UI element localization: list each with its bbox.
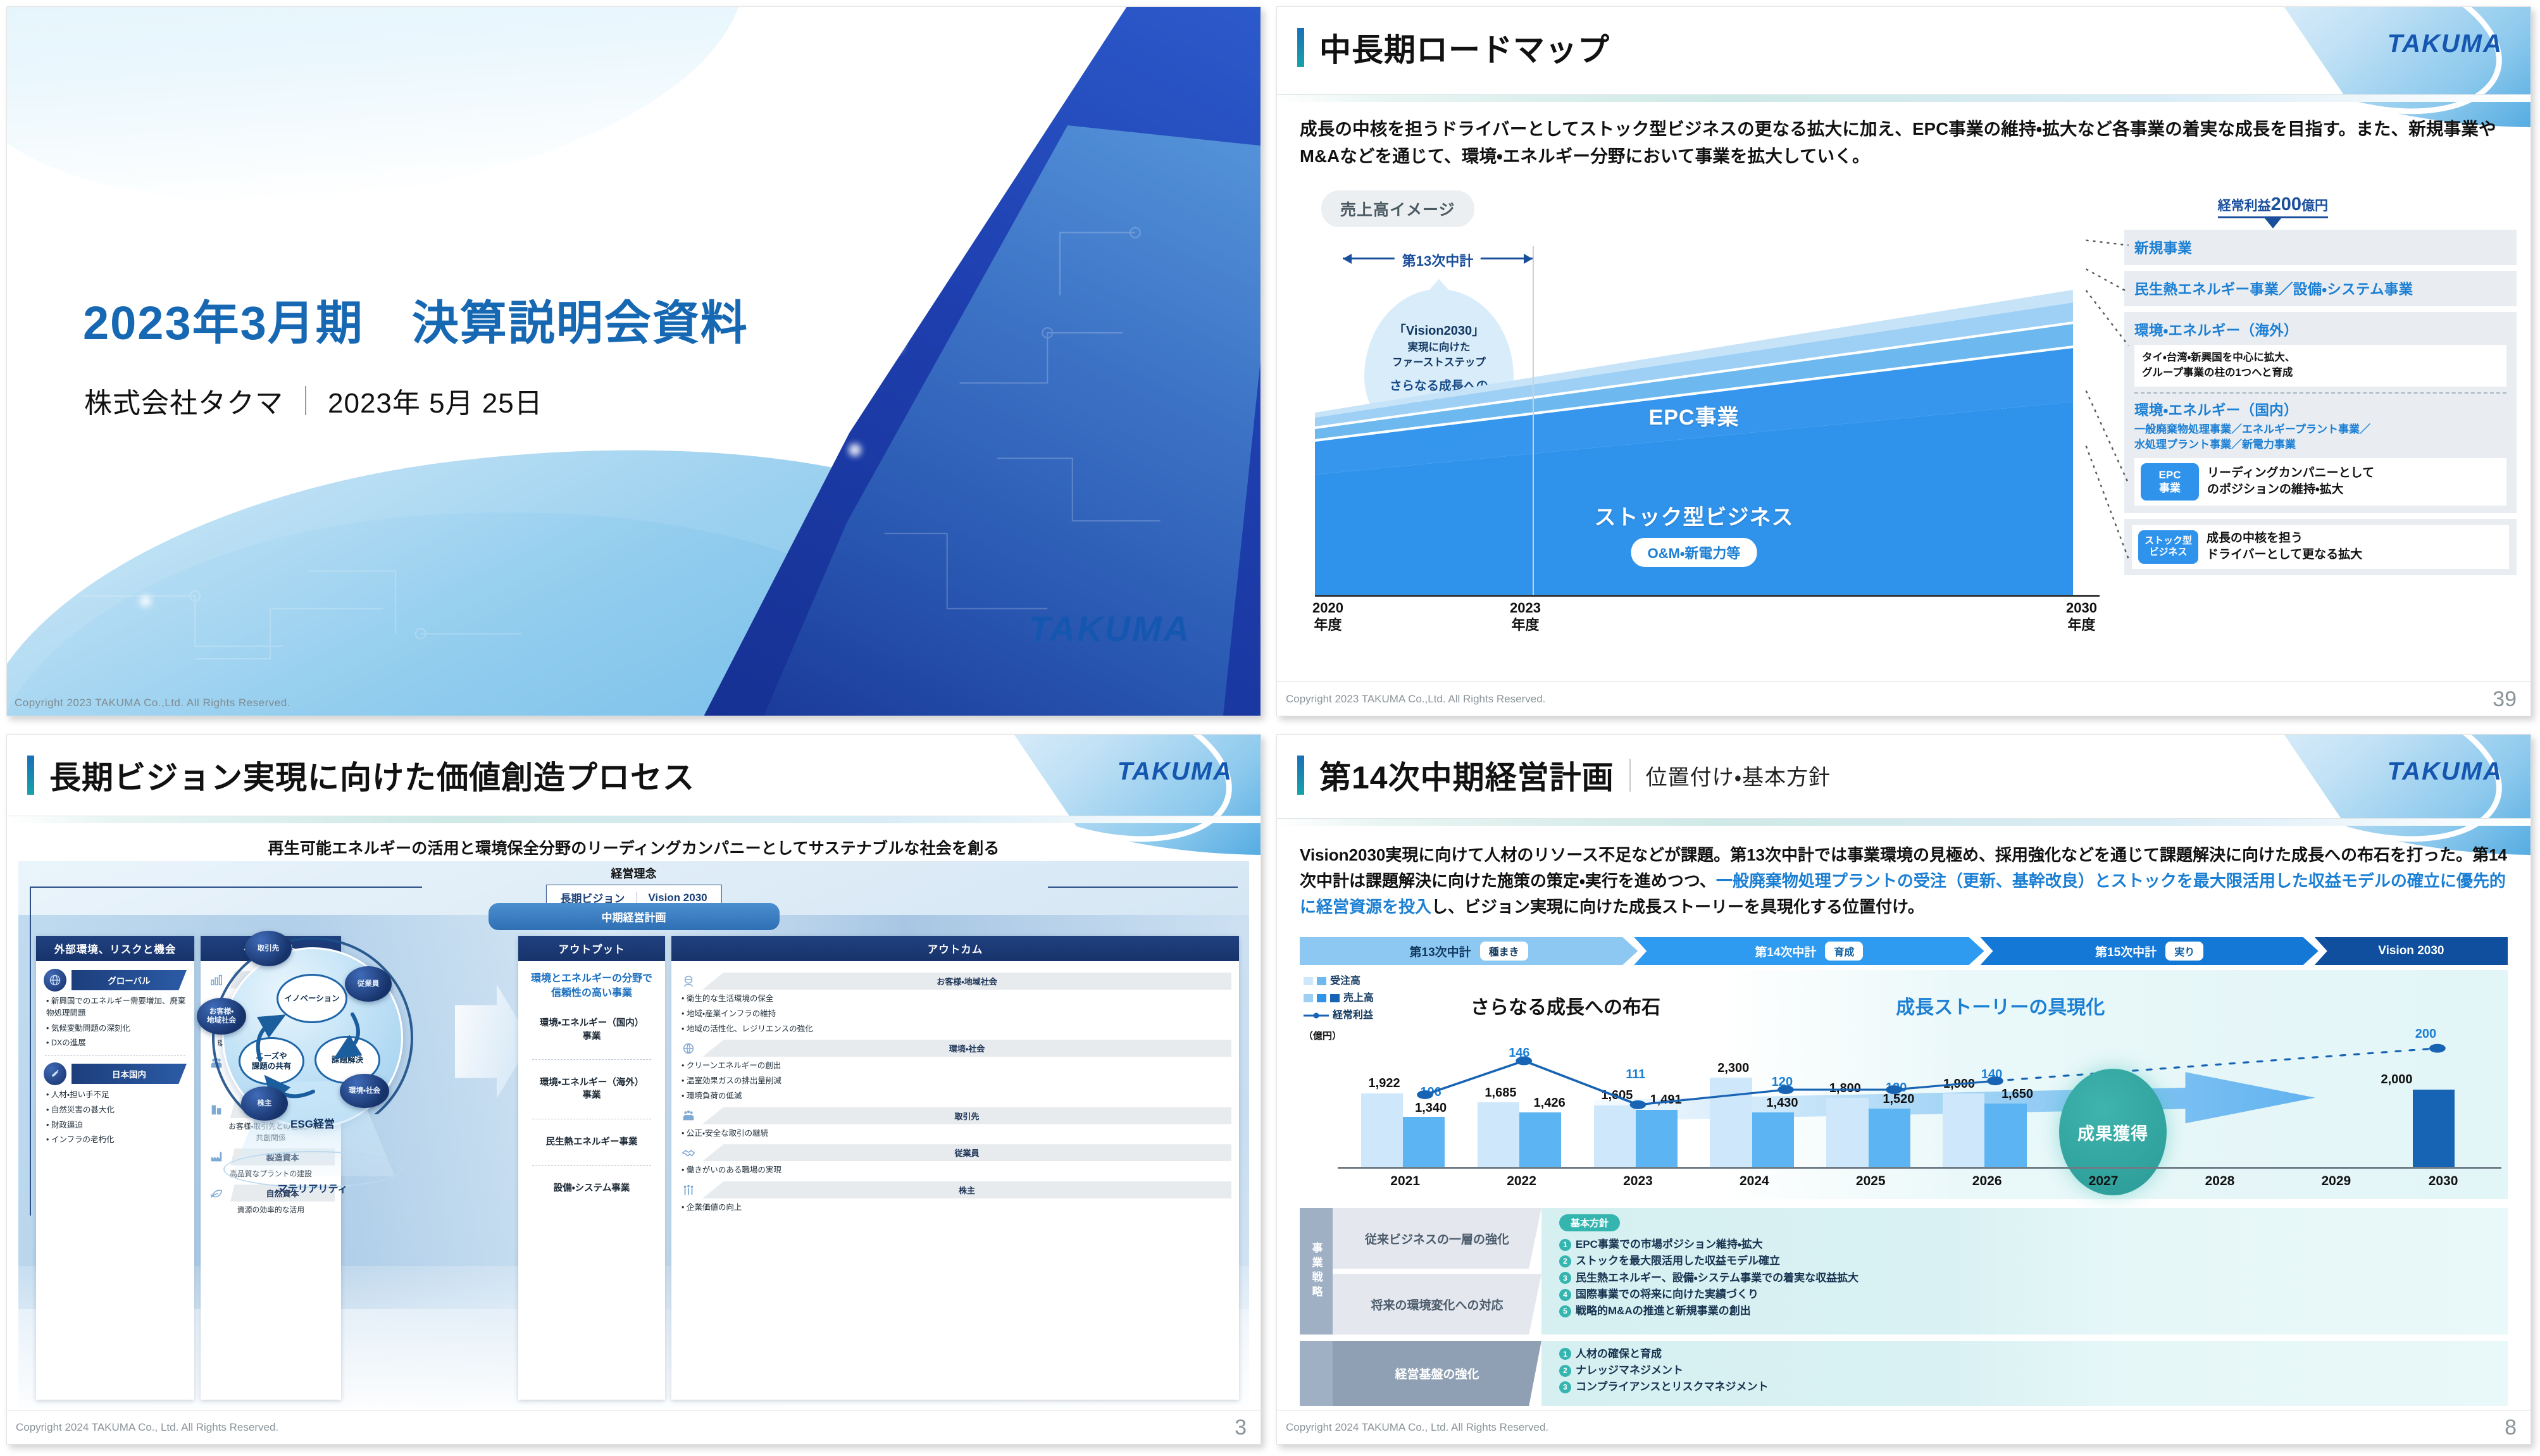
bullet-item: • 地域・産業インフラの維持 bbox=[682, 1008, 1231, 1020]
x-tick-2023: 2023年度 bbox=[1510, 600, 1541, 633]
legend-row-epc: EPC 事業 リーディングカンパニーとして のポジションの維持・拡大 bbox=[2134, 458, 2506, 506]
stakeholder-node-customers: お客様・ 地域社会 bbox=[197, 998, 246, 1035]
header-rule bbox=[1277, 94, 2531, 102]
phase-name: 第15次中計 bbox=[2095, 943, 2157, 960]
stakeholder-node-employees: 従業員 bbox=[345, 966, 392, 1002]
title-row: 第14次中期経営計画 位置付け・基本方針 bbox=[1297, 752, 1831, 798]
philosophy-label: 経営理念 bbox=[545, 865, 721, 881]
legend-header-domestic: 環境・エネルギー（国内） bbox=[2134, 399, 2506, 420]
legend-orders: 受注高 bbox=[1304, 973, 1374, 990]
page-title: 2023年3月期 決算説明会資料 bbox=[83, 285, 749, 353]
lead-statement: 再生可能エネルギーの活用と環境保全分野のリーディングカンパニーとしてサステナブル… bbox=[7, 836, 1261, 859]
profit-callout-text: 経常利益200億円 bbox=[2218, 194, 2328, 215]
globe-people-icon bbox=[679, 973, 698, 990]
title-subline: 株式会社タクマ 2023年 5月 25日 bbox=[84, 380, 543, 421]
company-name: 株式会社タクマ bbox=[84, 380, 283, 421]
phase-banner: 第13次中計 種まき 第14次中計 育成 第15次中計 実り Vision 20… bbox=[1300, 937, 2508, 965]
legend-swatch bbox=[1317, 977, 1326, 985]
legend-tag-epc: EPC 事業 bbox=[2141, 463, 2199, 501]
x-label: 2025 bbox=[1856, 1174, 1886, 1189]
bullet-item: • 地域の活性化、レジリエンスの強化 bbox=[682, 1023, 1231, 1035]
bullet-item: • 企業価値の向上 bbox=[682, 1202, 1231, 1214]
x-label: 2030 bbox=[2429, 1174, 2458, 1189]
takuma-logo: TAKUMA bbox=[2387, 30, 2503, 58]
bullet-item: • インフラの老朽化 bbox=[46, 1134, 187, 1146]
strategy-row-body: 1人材の確保と育成 2ナレッジマネジメント 3コンプライアンスとリスクマネジメン… bbox=[1541, 1341, 2508, 1406]
legend-line-icon bbox=[1304, 1012, 1329, 1019]
cycle-node-needs: ニーズや 課題の共有 bbox=[239, 1037, 304, 1085]
slide-header: 第14次中期経営計画 位置付け・基本方針 TAKUMA bbox=[1277, 735, 2531, 826]
phase-chip: 実り bbox=[2165, 942, 2203, 961]
band-label-stock: ストック型ビジネス bbox=[1595, 500, 1794, 531]
stakeholder-node-partners: 取引先 bbox=[245, 931, 292, 966]
bullet-item: • 環境負荷の低減 bbox=[682, 1090, 1231, 1102]
title-accent-bar bbox=[1297, 28, 1304, 67]
presentation-date: 2023年 5月 25日 bbox=[328, 380, 543, 421]
chart-plot-area: 1,922 1,340 106 1,685 1,426 146 1,605 1,… bbox=[1338, 1024, 2501, 1169]
slide-cell-plan: 第14次中期経営計画 位置付け・基本方針 TAKUMA Vision2030実現… bbox=[1270, 728, 2540, 1456]
chart-x-axis: 2021 2022 2023 2024 2025 2026 2027 2028 … bbox=[1338, 1174, 2501, 1195]
legend-dashed-divider bbox=[2134, 392, 2506, 394]
outcome-row: 株主 bbox=[679, 1181, 1231, 1198]
page-number: 3 bbox=[1235, 1416, 1247, 1440]
outcome-label: お客様・地域社会 bbox=[702, 973, 1231, 990]
lead-paragraph: 成長の中核を担うドライバーとしてストック型ビジネスの更なる拡大に加え、EPC事業… bbox=[1300, 116, 2505, 170]
legend-swatch bbox=[1330, 994, 1340, 1002]
lead-paragraph: Vision2030実現に向けて人材のリソース不足などが課題。第13次中計では事… bbox=[1300, 842, 2508, 920]
takuma-logo: TAKUMA bbox=[1117, 757, 1233, 786]
legend-label: 経常利益 bbox=[1333, 1007, 1373, 1024]
strategy-item: 4国際事業での将来に向けた実績づくり bbox=[1559, 1286, 2508, 1303]
output-item: 民生熱エネルギー事業 bbox=[527, 1136, 656, 1148]
x-label: 2027 bbox=[2089, 1174, 2119, 1189]
bullet-item: • 公正・安全な取引の継続 bbox=[682, 1128, 1231, 1140]
strategy-row-body: 基本方針 1EPC事業での市場ポジション維持・拡大 2ストックを最大限活用した収… bbox=[1541, 1208, 2508, 1335]
chart-headline-right: 成長ストーリーの具現化 bbox=[1896, 992, 2105, 1019]
panel-divider bbox=[45, 1055, 185, 1056]
phase-chip: 育成 bbox=[1825, 942, 1863, 961]
panel-header: アウトプット bbox=[518, 936, 665, 961]
phase-15: 第15次中計 実り bbox=[1981, 937, 2319, 965]
phase-13-indicator: 第13次中計 bbox=[1343, 251, 1533, 265]
panel-body: お客様・地域社会 • 衛生的な生活環境の保全 • 地域・産業インフラの維持 • … bbox=[671, 961, 1239, 1223]
legend-item-new-business: 新規事業 bbox=[2124, 230, 2517, 265]
x-label: 2022 bbox=[1507, 1174, 1536, 1189]
strategy-row-business: 従来ビジネスの一層の強化 将来の環境変化への対応 基本方針 1EPC事業での市場… bbox=[1333, 1208, 2508, 1335]
arrow-left-head-icon bbox=[1343, 254, 1352, 264]
panel-header: 外部環境、リスクと機会 bbox=[36, 936, 194, 961]
copyright-text: Copyright 2023 TAKUMA Co.,Ltd. All Right… bbox=[1286, 693, 1545, 706]
slide-header: 中長期ロードマップ TAKUMA bbox=[1277, 7, 2531, 102]
item-number: 1 bbox=[1559, 1348, 1571, 1360]
roadmap-area-chart: 第13次中計 「Vision2030」 実現に向けた ファーストステップ さらな… bbox=[1315, 228, 2100, 633]
strategy-table: 事業戦略 従来ビジネスの一層の強化 将来の環境変化への対応 基本方針 1EPC事… bbox=[1300, 1208, 2508, 1406]
bullet-item: • 働きがいのある職場の実現 bbox=[682, 1164, 1231, 1176]
legend-item-overseas: 環境・エネルギー（海外） タイ・台湾・新興国を中心に拡大、 グループ事業の柱の1… bbox=[2124, 312, 2517, 513]
handshake-icon bbox=[679, 1145, 698, 1161]
strategy-item: 3民生熱エネルギー、設備・システム事業での着実な収益拡大 bbox=[1559, 1270, 2508, 1286]
legend-label: 受注高 bbox=[1330, 973, 1360, 990]
page-subtitle: 位置付け・基本方針 bbox=[1646, 760, 1831, 791]
phase-name: Vision 2030 bbox=[2378, 944, 2444, 958]
bullet-item: • 温室効果ガスの排出量削減 bbox=[682, 1075, 1231, 1087]
bullet-item: • 衛生的な生活環境の保全 bbox=[682, 993, 1231, 1005]
panel-body: 環境とエネルギーの分野で 信頼性の高い事業 環境・エネルギー（国内） 事業 環境… bbox=[518, 961, 665, 1205]
phase-chip: 種まき bbox=[1480, 942, 1528, 961]
outcome-label: 株主 bbox=[702, 1181, 1231, 1198]
panel-outcome: アウトカム お客様・地域社会 • 衛生的な生活環境の保全 • 地域・産業インフラ… bbox=[671, 936, 1239, 1400]
bullet-item: • 財政逼迫 bbox=[46, 1119, 187, 1131]
glow-dot bbox=[849, 444, 861, 456]
materiality-label: マテリアリティ bbox=[208, 1180, 417, 1195]
legend-swatch bbox=[1317, 994, 1326, 1002]
x-label: 2023 bbox=[1623, 1174, 1653, 1189]
earth-icon bbox=[679, 1040, 698, 1057]
legend-item-heat-equipment: 民生熱エネルギー事業／設備・システム事業 bbox=[2124, 271, 2517, 306]
slide-cell-value: 長期ビジョン実現に向けた価値創造プロセス TAKUMA 再生可能エネルギーの活用… bbox=[0, 728, 1270, 1456]
panel-header: アウトカム bbox=[671, 936, 1239, 961]
item-number: 3 bbox=[1559, 1381, 1571, 1393]
copyright-text: Copyright 2024 TAKUMA Co., Ltd. All Righ… bbox=[1286, 1421, 1548, 1434]
x-label: 2021 bbox=[1390, 1174, 1420, 1189]
x-label: 2024 bbox=[1740, 1174, 1769, 1189]
roadmap-legend: 新規事業 民生熱エネルギー事業／設備・システム事業 環境・エネルギー（海外） タ… bbox=[2124, 230, 2517, 581]
slide-grid: 2023年3月期 決算説明会資料 株式会社タクマ 2023年 5月 25日 TA… bbox=[0, 0, 2540, 1456]
phase-vision2030: Vision 2030 bbox=[2315, 937, 2508, 965]
group-label: グローバル bbox=[72, 970, 187, 990]
slide-cell-title: 2023年3月期 決算説明会資料 株式会社タクマ 2023年 5月 25日 TA… bbox=[0, 0, 1270, 728]
legend-tag-stock: ストック型 ビジネス bbox=[2138, 530, 2198, 564]
band-label-epc: EPC事業 bbox=[1649, 400, 1740, 431]
legend-swatch bbox=[1304, 994, 1313, 1002]
basic-policy-chip: 基本方針 bbox=[1559, 1214, 1620, 1231]
title-row: 長期ビジョン実現に向けた価値創造プロセス bbox=[27, 752, 695, 798]
x-tick-2020: 2020年度 bbox=[1312, 600, 1343, 633]
strategy-item: 2ストックを最大限活用した収益モデル確立 bbox=[1559, 1253, 2508, 1269]
copyright-text: Copyright 2024 TAKUMA Co., Ltd. All Righ… bbox=[16, 1421, 278, 1434]
strategy-item: 2ナレッジマネジメント bbox=[1559, 1362, 2508, 1379]
outcome-label: 従業員 bbox=[702, 1144, 1231, 1161]
x-label: 2029 bbox=[2322, 1174, 2351, 1189]
strategy-item: 5戦略的M&Aの推進と新規事業の創出 bbox=[1559, 1303, 2508, 1319]
legend-header: 新規事業 bbox=[2134, 237, 2506, 258]
strategy-row-label: 将来の環境変化への対応 bbox=[1333, 1274, 1541, 1335]
item-number: 1 bbox=[1559, 1239, 1571, 1251]
phase-14: 第14次中計 育成 bbox=[1634, 937, 1984, 965]
people-icon bbox=[679, 1107, 698, 1124]
legend-header: 民生熱エネルギー事業／設備・システム事業 bbox=[2134, 278, 2506, 299]
item-number: 3 bbox=[1559, 1272, 1571, 1284]
bullet-item: • 自然災害の甚大化 bbox=[46, 1104, 187, 1116]
outcome-row: お客様・地域社会 bbox=[679, 973, 1231, 990]
profit-callout-caret bbox=[2265, 218, 2281, 228]
legend-profit: 経常利益 bbox=[1304, 1007, 1374, 1024]
title-accent-bar bbox=[1297, 756, 1304, 795]
group-caption-global: グローバル bbox=[44, 969, 187, 992]
esg-label: ESG経営 bbox=[208, 1115, 417, 1131]
group-label: 日本国内 bbox=[72, 1064, 187, 1084]
divider bbox=[636, 892, 637, 904]
output-divider bbox=[532, 1059, 651, 1060]
strategy-side-label: 事業戦略 bbox=[1300, 1208, 1333, 1335]
legend-sales: 売上高 bbox=[1304, 990, 1374, 1007]
bullet-item: • 人材・担い手不足 bbox=[46, 1089, 187, 1101]
strategy-item: 1EPC事業での市場ポジション維持・拡大 bbox=[1559, 1236, 2508, 1253]
strategy-item: 1人材の確保と育成 bbox=[1559, 1346, 2508, 1362]
legend-row-stock: ストック型 ビジネス 成長の中核を担う ドライバーとして更なる拡大 bbox=[2132, 525, 2509, 569]
x-tick-2030: 2030年度 bbox=[2066, 600, 2097, 633]
panel-external-environment: 外部環境、リスクと機会 グローバル • 新興国でのエネルギー需要増加、廃棄物処理… bbox=[36, 936, 194, 1400]
value-creation-slide: 長期ビジョン実現に向けた価値創造プロセス TAKUMA 再生可能エネルギーの活用… bbox=[6, 734, 1261, 1445]
panel-output: アウトプット 環境とエネルギーの分野で 信頼性の高い事業 環境・エネルギー（国内… bbox=[518, 936, 665, 1400]
connector-line-vertical bbox=[30, 887, 31, 1216]
item-number: 2 bbox=[1559, 1255, 1571, 1267]
connector-line-right bbox=[1048, 887, 1238, 888]
bullet-item: • DXの進展 bbox=[46, 1037, 187, 1049]
title-accent-bar bbox=[27, 756, 34, 795]
bullet-item: • 新興国でのエネルギー需要増加、廃棄物処理問題 bbox=[46, 995, 187, 1019]
page-title: 中長期ロードマップ bbox=[1319, 25, 1610, 70]
title-row: 中長期ロードマップ bbox=[1297, 25, 1610, 70]
outcome-row: 環境・社会 bbox=[679, 1040, 1231, 1057]
page-title: 第14次中期経営計画 bbox=[1319, 752, 1614, 798]
bullet-item: • クリーンエネルギーの創出 bbox=[682, 1060, 1231, 1072]
output-divider bbox=[532, 1165, 651, 1166]
outcome-label: 環境・社会 bbox=[702, 1040, 1231, 1057]
takuma-logo: TAKUMA bbox=[2387, 757, 2503, 786]
legend-text-epc: リーディングカンパニーとして のポジションの維持・拡大 bbox=[2207, 465, 2374, 499]
legend-detail-box: タイ・台湾・新興国を中心に拡大、 グループ事業の柱の1つへと育成 bbox=[2134, 345, 2506, 387]
strategy-row-label: 経営基盤の強化 bbox=[1333, 1341, 1541, 1406]
outcome-row: 取引先 bbox=[679, 1107, 1231, 1124]
midterm-plan-slide: 第14次中期経営計画 位置付け・基本方針 TAKUMA Vision2030実現… bbox=[1276, 734, 2531, 1445]
roadmap-slide: 中長期ロードマップ TAKUMA 成長の中核を担うドライバーとしてストック型ビジ… bbox=[1276, 6, 2531, 716]
page-number: 39 bbox=[2493, 687, 2517, 712]
glow-dot bbox=[887, 336, 903, 352]
title-slide: 2023年3月期 決算説明会資料 株式会社タクマ 2023年 5月 25日 TA… bbox=[6, 6, 1261, 716]
strategy-side-spacer bbox=[1300, 1341, 1333, 1406]
phase-arrow: 第13次中計 bbox=[1343, 251, 1533, 265]
legend-text-stock: 成長の中核を担う ドライバーとして更なる拡大 bbox=[2207, 530, 2362, 564]
area-bands: EPC事業 ストック型ビジネス O&M・新電力等 bbox=[1315, 266, 2073, 595]
plan-bar-line-chart: 受注高 売上高 経常利益 （億円） さらなる成長への布石 成長スト bbox=[1300, 970, 2508, 1199]
value-diagram-canvas: 経営理念 長期ビジョン Vision 2030 中期経営計画 外部環境、リスクと… bbox=[18, 861, 1249, 1409]
x-label: 2028 bbox=[2205, 1174, 2235, 1189]
midterm-plan-bar: 中期経営計画 bbox=[489, 903, 780, 930]
stakeholder-node-environment: 環境・社会 bbox=[340, 1074, 389, 1108]
group-caption-japan: 日本国内 bbox=[44, 1062, 187, 1085]
japan-map-icon bbox=[44, 1062, 66, 1085]
cycle-node-innovation: イノベーション bbox=[277, 974, 347, 1023]
sales-image-pill: 売上高イメージ bbox=[1321, 190, 1474, 227]
phase-name: 第14次中計 bbox=[1755, 943, 1816, 960]
esg-cycle-diagram: イノベーション ニーズや 課題の共有 課題解決 取引先 従業員 お客様・ 地域社… bbox=[208, 936, 417, 1189]
x-label: 2026 bbox=[1972, 1174, 2002, 1189]
takuma-logo: TAKUMA bbox=[1029, 608, 1191, 649]
strategy-row-label: 従来ビジネスの一層の強化 bbox=[1333, 1208, 1541, 1269]
chart-divider-2023 bbox=[1533, 246, 1534, 597]
phase-name: 第13次中計 bbox=[1410, 943, 1471, 960]
strategy-item: 3コンプライアンスとリスクマネジメント bbox=[1559, 1379, 2508, 1395]
output-item: 環境・エネルギー（国内） 事業 bbox=[527, 1017, 656, 1043]
header-rule bbox=[7, 816, 1261, 823]
phase-13: 第13次中計 種まき bbox=[1300, 937, 1638, 965]
band-chip-om: O&M・新電力等 bbox=[1631, 538, 1757, 567]
glow-dot bbox=[140, 595, 151, 607]
profit-callout: 経常利益200億円 bbox=[2218, 194, 2328, 228]
divider bbox=[305, 386, 306, 415]
output-divider bbox=[532, 1119, 651, 1119]
legend-header: 環境・エネルギー（海外） bbox=[2134, 320, 2506, 340]
chart-baseline bbox=[1338, 1167, 2501, 1169]
output-item: 設備・システム事業 bbox=[527, 1182, 656, 1195]
header-rule bbox=[1277, 818, 2531, 826]
connector-line-left bbox=[30, 887, 422, 888]
item-number: 4 bbox=[1559, 1289, 1571, 1301]
chart-axis bbox=[1315, 595, 2100, 597]
outcome-row: 従業員 bbox=[679, 1144, 1231, 1161]
output-title: 環境とエネルギーの分野で 信頼性の高い事業 bbox=[527, 971, 656, 1000]
panel-body: グローバル • 新興国でのエネルギー需要増加、廃棄物処理問題 • 気候変動問題の… bbox=[36, 961, 194, 1155]
chart-headline-left: さらなる成長への布石 bbox=[1471, 992, 1660, 1019]
globe-icon bbox=[44, 969, 66, 992]
item-number: 5 bbox=[1559, 1305, 1571, 1317]
outcome-label: 取引先 bbox=[702, 1107, 1231, 1124]
page-number: 8 bbox=[2505, 1416, 2517, 1440]
legend-swatch bbox=[1304, 977, 1313, 985]
bullet-item: • 気候変動問題の深刻化 bbox=[46, 1023, 187, 1035]
strategy-row-foundation: 経営基盤の強化 1人材の確保と育成 2ナレッジマネジメント 3コンプライアンスと… bbox=[1333, 1341, 2508, 1406]
slide-cell-roadmap: 中長期ロードマップ TAKUMA 成長の中核を担うドライバーとしてストック型ビジ… bbox=[1270, 0, 2540, 728]
slide-header: 長期ビジョン実現に向けた価値創造プロセス TAKUMA bbox=[7, 735, 1261, 823]
page-title: 長期ビジョン実現に向けた価値創造プロセス bbox=[49, 752, 695, 798]
output-item: 環境・エネルギー（海外） 事業 bbox=[527, 1076, 656, 1102]
copyright-text: Copyright 2023 TAKUMA Co.,Ltd. All Right… bbox=[15, 697, 290, 709]
lead-post: し、ビジョン実現に向けた成長ストーリーを具現化する位置付け。 bbox=[1431, 897, 1924, 916]
title-divider bbox=[1629, 759, 1631, 792]
legend-subline: 一般廃棄物処理事業／エネルギープラント事業／ 水処理プラント事業／新電力事業 bbox=[2134, 422, 2506, 453]
profit-line-series bbox=[1338, 1024, 2501, 1169]
shareholder-icon bbox=[679, 1182, 698, 1198]
item-number: 2 bbox=[1559, 1365, 1571, 1377]
legend-label: 売上高 bbox=[1343, 990, 1374, 1007]
input-desc: 資源の効率的な活用 bbox=[207, 1205, 335, 1216]
legend-item-stock: ストック型 ビジネス 成長の中核を担う ドライバーとして更なる拡大 bbox=[2124, 519, 2517, 576]
vision-label-right: Vision 2030 bbox=[648, 892, 707, 904]
